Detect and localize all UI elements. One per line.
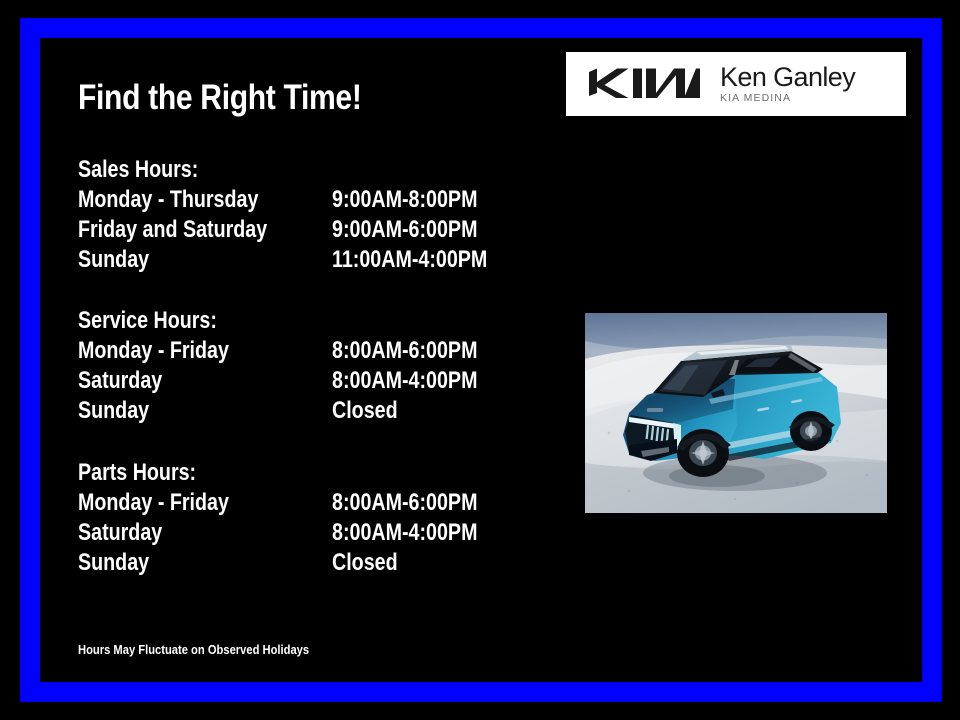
hours-block-sales: Sales Hours: Monday - Thursday 9:00AM-8:… bbox=[78, 155, 225, 275]
hours-row-day: Sunday bbox=[78, 396, 149, 426]
hours-row-time: 11:00AM-4:00PM bbox=[332, 245, 487, 275]
slide-canvas: Find the Right Time! Sales Hours: Monday… bbox=[0, 0, 960, 720]
hours-row-time: Closed bbox=[332, 396, 398, 426]
hours-row: Monday - Friday 8:00AM-6:00PM bbox=[78, 488, 222, 518]
hours-heading: Parts Hours: bbox=[78, 458, 196, 488]
hours-row-day: Monday - Thursday bbox=[78, 185, 258, 215]
dealer-logo-lockup: Ken Ganley KIA MEDINA bbox=[566, 52, 906, 116]
dealer-name-group: Ken Ganley KIA MEDINA bbox=[706, 63, 906, 105]
hours-row: Sunday Closed bbox=[78, 396, 247, 426]
hours-row-day: Saturday bbox=[78, 518, 162, 548]
hours-row-time: 8:00AM-6:00PM bbox=[332, 336, 477, 366]
hours-row-time: 8:00AM-4:00PM bbox=[332, 518, 477, 548]
hours-block-service: Service Hours: Monday - Friday 8:00AM-6:… bbox=[78, 306, 247, 426]
hours-row-day: Monday - Friday bbox=[78, 488, 229, 518]
hours-row-day: Sunday bbox=[78, 245, 149, 275]
hours-block-parts: Parts Hours: Monday - Friday 8:00AM-6:00… bbox=[78, 458, 222, 578]
hours-heading: Service Hours: bbox=[78, 306, 217, 336]
footnote-text: Hours May Fluctuate on Observed Holidays bbox=[78, 642, 309, 657]
hours-row-day: Sunday bbox=[78, 548, 149, 578]
hours-row: Sunday 11:00AM-4:00PM bbox=[78, 245, 225, 275]
hours-row-day: Monday - Friday bbox=[78, 336, 229, 366]
hours-row-day: Saturday bbox=[78, 366, 162, 396]
dealer-sublabel: KIA MEDINA bbox=[720, 92, 791, 105]
hours-row: Sunday Closed bbox=[78, 548, 222, 578]
kia-ev9-suv-photo bbox=[585, 313, 887, 513]
hours-row: Saturday 8:00AM-4:00PM bbox=[78, 366, 247, 396]
hours-row-time: Closed bbox=[332, 548, 398, 578]
kia-logo-icon bbox=[576, 67, 706, 101]
hours-row-day: Friday and Saturday bbox=[78, 215, 267, 245]
hours-row: Saturday 8:00AM-4:00PM bbox=[78, 518, 222, 548]
hours-row-time: 8:00AM-4:00PM bbox=[332, 366, 477, 396]
hours-row: Monday - Thursday 9:00AM-8:00PM bbox=[78, 185, 225, 215]
hours-row-time: 9:00AM-8:00PM bbox=[332, 185, 477, 215]
page-title: Find the Right Time! bbox=[78, 78, 362, 118]
hours-row-time: 8:00AM-6:00PM bbox=[332, 488, 477, 518]
hours-row-time: 9:00AM-6:00PM bbox=[332, 215, 477, 245]
dealer-name: Ken Ganley bbox=[720, 63, 855, 91]
hours-row: Monday - Friday 8:00AM-6:00PM bbox=[78, 336, 247, 366]
hours-heading: Sales Hours: bbox=[78, 155, 198, 185]
hours-row: Friday and Saturday 9:00AM-6:00PM bbox=[78, 215, 225, 245]
